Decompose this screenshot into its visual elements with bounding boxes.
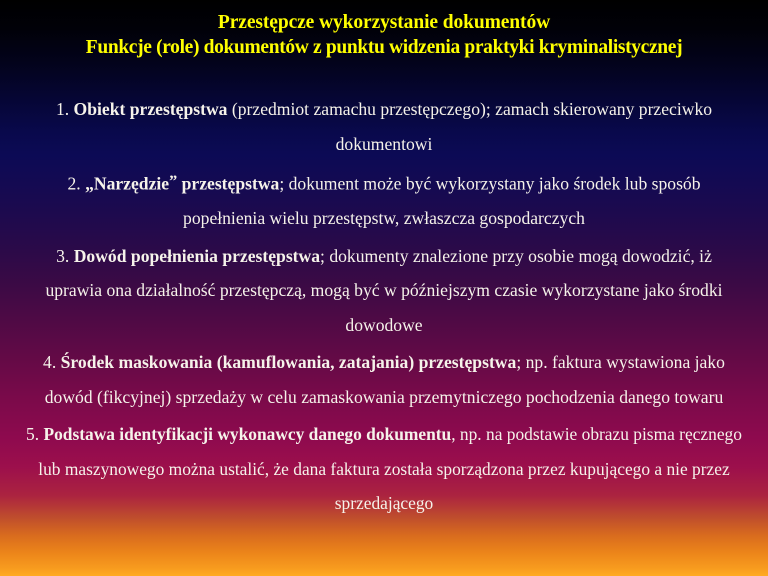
list-item: 3. Dowód popełnienia przestępstwa; dokum… [0, 239, 768, 343]
list-item: 2. „Narzędzie” przestępstwa; dokument mo… [0, 164, 768, 236]
title-line-2: Funkcje (role) dokumentów z punktu widze… [0, 35, 768, 60]
item-lead-tail: przestępstwa [177, 174, 279, 194]
slide-body: 1. Obiekt przestępstwa (przedmiot zamach… [0, 92, 768, 521]
item-number: 5. [26, 424, 39, 444]
item-lead: Środek maskowania (kamuflowania, zatajan… [61, 352, 517, 372]
item-open-quote: „ [85, 174, 94, 194]
list-item: 4. Środek maskowania (kamuflowania, zata… [0, 345, 768, 414]
item-number: 3. [56, 246, 69, 266]
item-lead: Obiekt przestępstwa [74, 99, 228, 119]
item-lead: Narzędzie [94, 174, 169, 194]
item-number: 4. [43, 352, 56, 372]
item-rest: (przedmiot zamachu przestępczego); zamac… [227, 99, 712, 154]
item-lead: Dowód popełnienia przestępstwa [74, 246, 320, 266]
item-number: 2. [67, 174, 80, 194]
slide-title: Przestępcze wykorzystanie dokumentów Fun… [0, 10, 768, 60]
item-lead: Podstawa identyfikacji wykonawcy danego … [43, 424, 451, 444]
item-number: 1. [56, 99, 69, 119]
slide-canvas: Przestępcze wykorzystanie dokumentów Fun… [0, 0, 768, 576]
item-close-quote: ” [169, 172, 177, 190]
list-item: 1. Obiekt przestępstwa (przedmiot zamach… [0, 92, 768, 161]
title-line-1: Przestępcze wykorzystanie dokumentów [0, 10, 768, 35]
list-item: 5. Podstawa identyfikacji wykonawcy dane… [0, 417, 768, 521]
